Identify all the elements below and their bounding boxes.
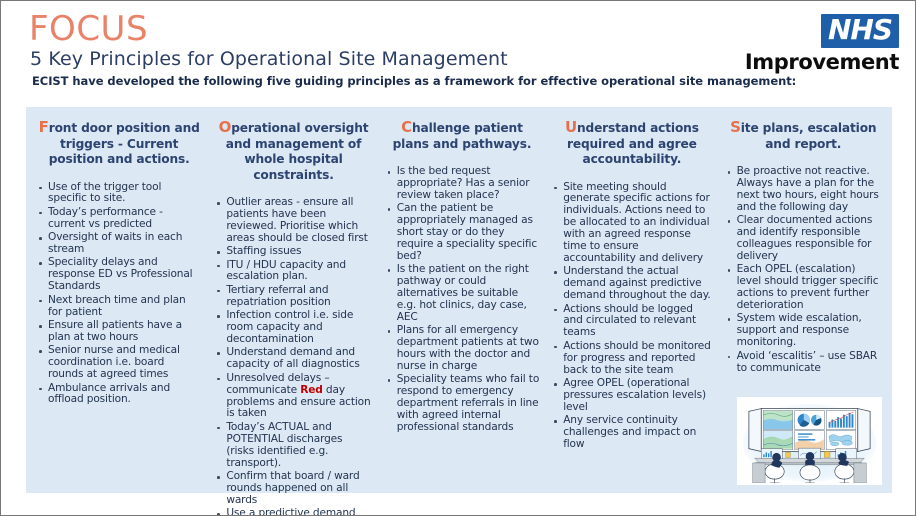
bullet-item: Be proactive not reactive. Always have a… [725,166,882,214]
bullet-item: Infection control i.e. side room capacit… [214,310,372,346]
bullet-item: Ensure all patients have a plan at two h… [36,320,202,344]
column-heading: Understand actions required and agree ac… [553,120,710,168]
principle-column-front-door: Front door position and triggers - Curre… [30,116,208,489]
intro-paragraph: ECIST have developed the following five … [32,74,796,88]
bullet-item: Is the patient on the right pathway or c… [385,264,539,324]
nhs-logo-text: NHS [828,15,892,45]
column-heading-text: hallenge patient plans and pathways. [393,121,532,151]
bullet-item: Can the patient be appropriately managed… [385,203,539,263]
page-subtitle: 5 Key Principles for Operational Site Ma… [30,48,508,70]
bullet-item: Avoid ‘escalitis’ – use SBAR to communic… [725,351,882,375]
bullet-item: System wide escalation, support and resp… [725,313,882,349]
bullet-item: Use a predictive demand model based upon… [214,508,372,516]
nhs-improvement-logo: NHS Improvement [719,14,899,74]
emphasis-red-text: Red [300,384,322,396]
bullet-item: Actions should be monitored for progress… [551,341,712,377]
bullet-item: Unresolved delays – communicate Red day … [214,373,372,421]
column-heading: Site plans, escalation and report. [727,120,880,152]
principles-panel: Front door position and triggers - Curre… [26,107,892,493]
bullet-list: Be proactive not reactive. Always have a… [725,166,882,374]
column-heading-text: nderstand actions required and agree acc… [567,121,699,166]
bullet-item: Clear documented actions and identify re… [725,215,882,263]
bullet-list: Is the bed request appropriate? Has a se… [385,166,539,434]
control-room-image-frame [737,397,882,485]
bullet-item: Actions should be logged and circulated … [551,304,712,340]
bullet-item: Ambulance arrivals and offload position. [36,383,202,407]
bullet-item: Understand demand and capacity of all di… [214,347,372,371]
bullet-item: Understand the actual demand against pre… [551,266,712,302]
bullet-item: Plans for all emergency department patie… [385,325,539,373]
column-heading-text: perational oversight and management of w… [226,121,369,182]
column-heading-text: ront door position and triggers - Curren… [49,121,200,166]
column-heading: Operational oversight and management of … [216,120,370,183]
column-heading: Challenge patient plans and pathways. [387,120,537,152]
bullet-item: Any service continuity challenges and im… [551,415,712,451]
bullet-list: Outlier areas - ensure all patients have… [214,197,372,516]
principle-column-site-plans: Site plans, escalation and report. Be pr… [719,116,888,489]
bullet-item: Confirm that board / ward rounds happene… [214,471,372,507]
column-heading: Front door position and triggers - Curre… [38,120,200,168]
bullet-item: Use of the trigger tool specific to site… [36,182,202,206]
bullet-list: Use of the trigger tool specific to site… [36,182,202,407]
brand-title: FOCUS [29,9,148,49]
bullet-item: Today’s ACTUAL and POTENTIAL discharges … [214,422,372,470]
principle-column-challenge-plans: Challenge patient plans and pathways. Is… [379,116,545,489]
column-initial: S [730,118,741,136]
column-initial: F [39,118,49,136]
bullet-item: Senior nurse and medical coordination i.… [36,345,202,381]
column-initial: C [401,118,412,136]
column-heading-text: ite plans, escalation and report. [741,121,877,151]
poster-root: FOCUS 5 Key Principles for Operational S… [0,0,916,516]
bullet-item: Agree OPEL (operational pressures escala… [551,378,712,414]
bullet-item: Today’s performance - current vs predict… [36,207,202,231]
bullet-item: Each OPEL (escalation) level should trig… [725,264,882,312]
bullet-item: Oversight of waits in each stream [36,232,202,256]
nhs-logo-subtext: Improvement [719,50,899,74]
nhs-logo-box: NHS [821,14,899,48]
control-room-svg [739,399,880,483]
bullet-item: ITU / HDU capacity and escalation plan. [214,260,372,284]
bullet-item: Tertiary referral and repatriation posit… [214,285,372,309]
bullet-list: Site meeting should generate specific ac… [551,182,712,451]
bullet-item: Staffing issues [214,246,372,258]
poster-header: FOCUS 5 Key Principles for Operational S… [1,1,916,101]
column-initial: U [565,118,577,136]
bullet-item: Next breach time and plan for patient [36,295,202,319]
bullet-item: Outlier areas - ensure all patients have… [214,197,372,245]
bullet-item: Speciality delays and response ED vs Pro… [36,257,202,293]
bullet-item: Site meeting should generate specific ac… [551,182,712,265]
bullet-item: Speciality teams who fail to respond to … [385,374,539,434]
operations-control-room-illustration [739,399,880,483]
principle-column-understand-actions: Understand actions required and agree ac… [545,116,718,489]
principle-column-operational-oversight: Operational oversight and management of … [208,116,378,489]
principles-columns: Front door position and triggers - Curre… [26,107,892,493]
column-initial: O [219,118,232,136]
bullet-item: Is the bed request appropriate? Has a se… [385,166,539,202]
